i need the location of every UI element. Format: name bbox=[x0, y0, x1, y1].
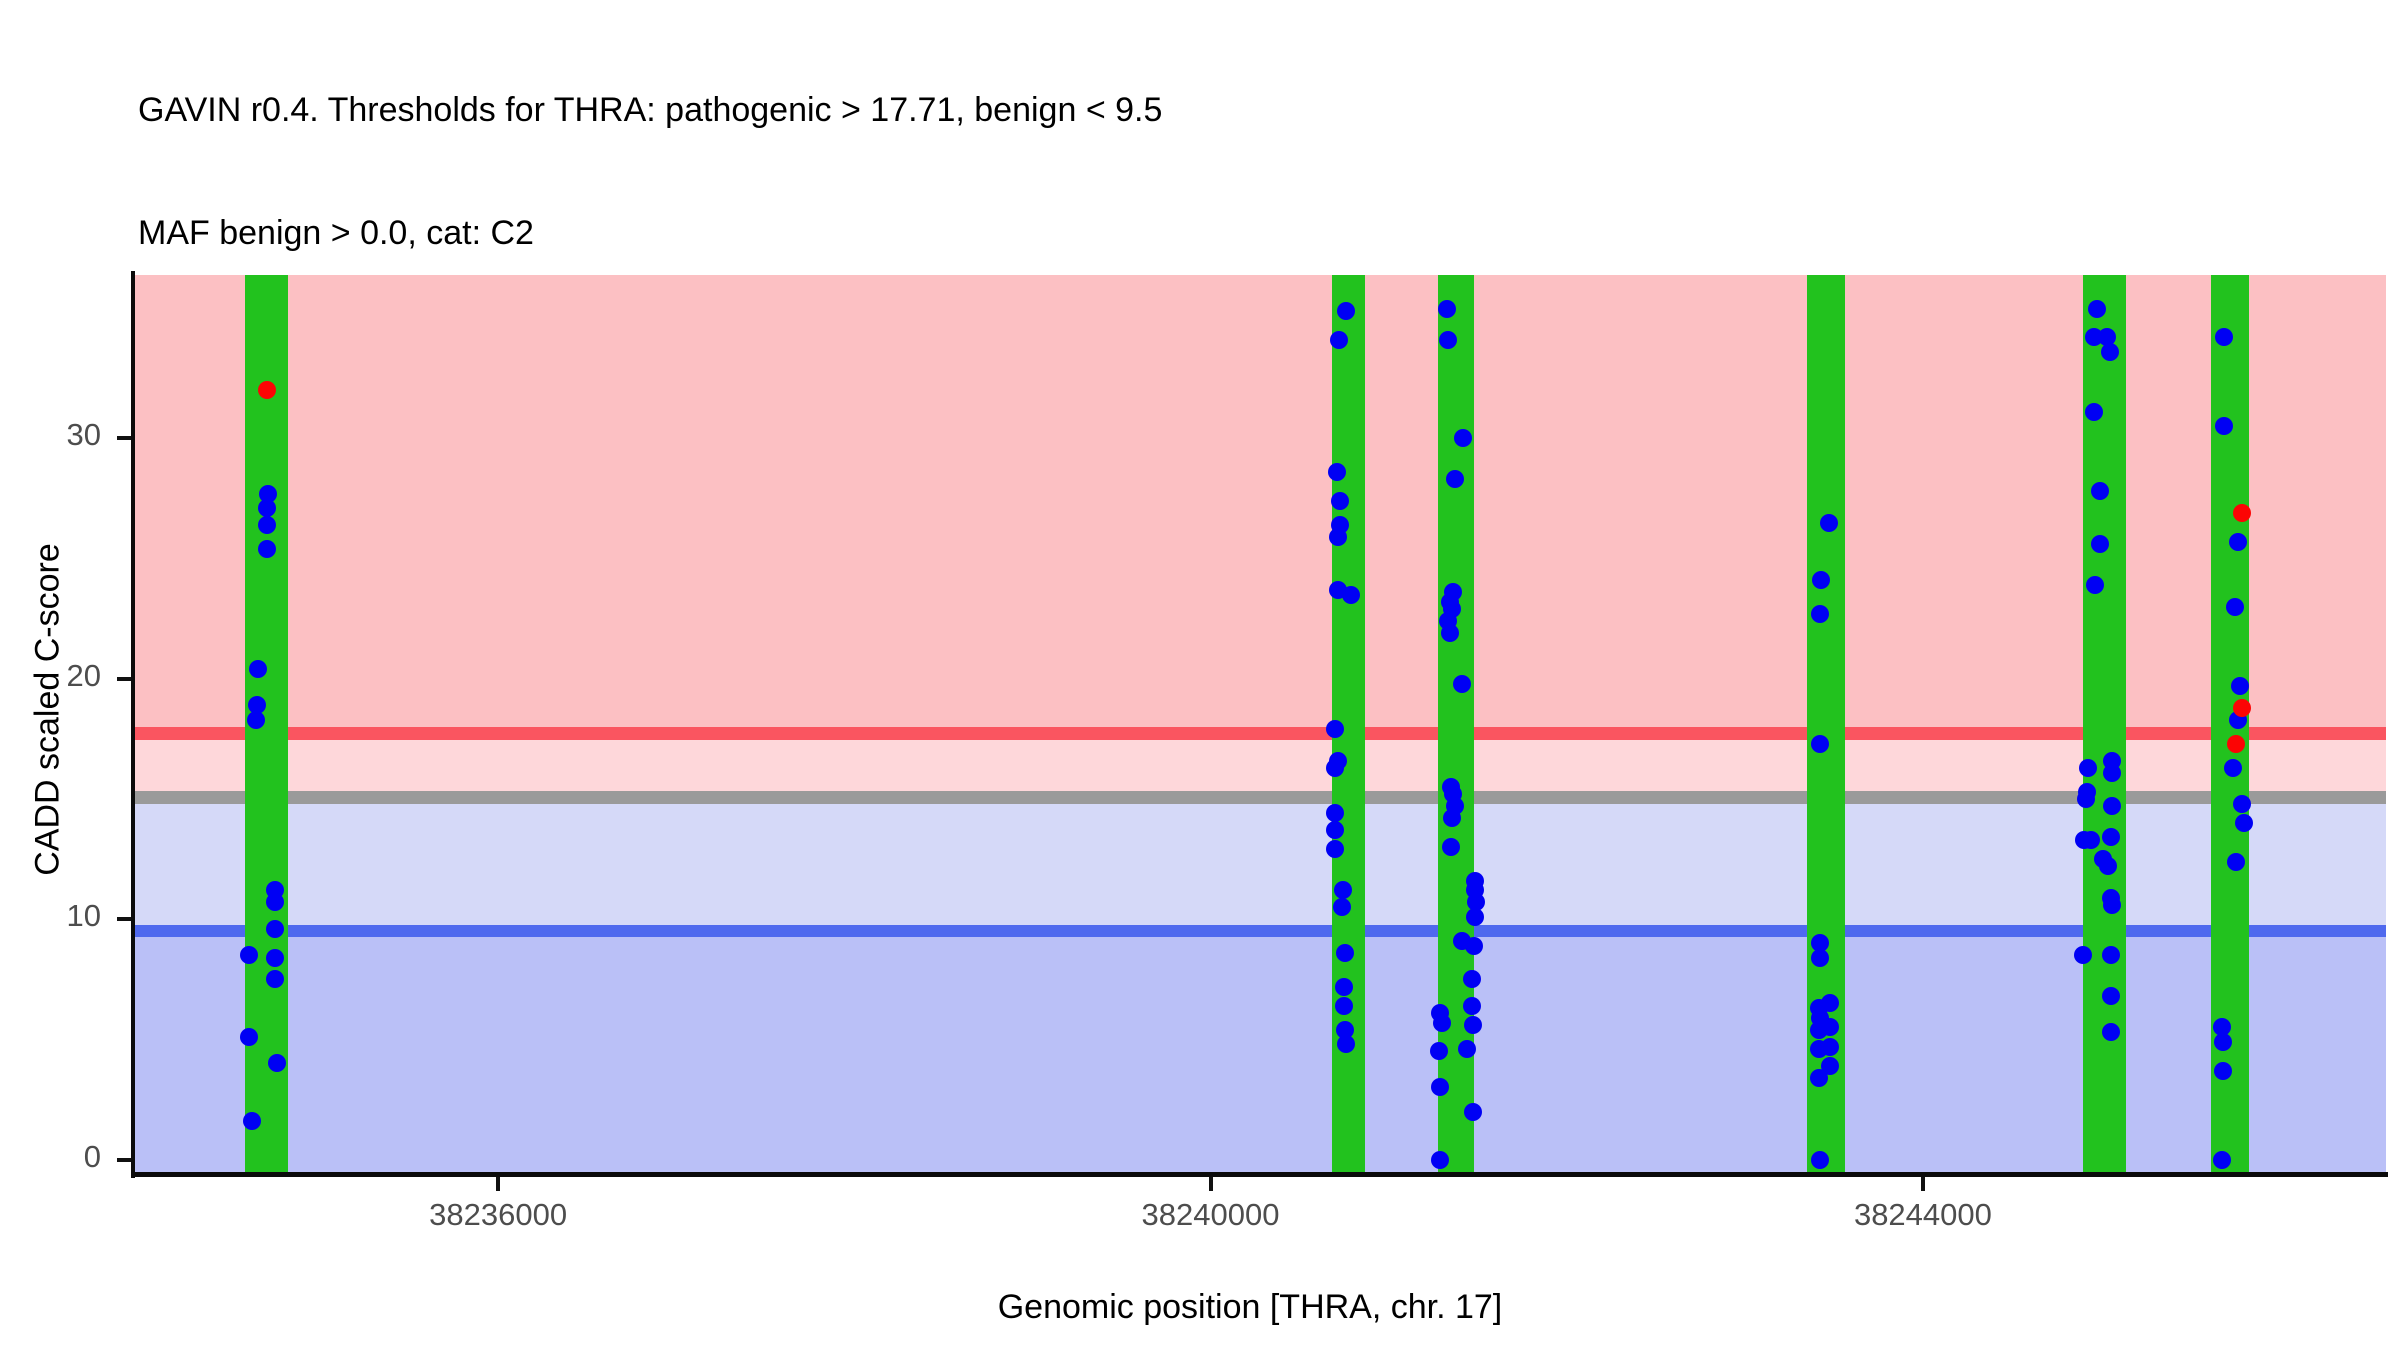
gnomad-variant-point bbox=[2102, 946, 2120, 964]
gnomad-variant-point bbox=[2226, 598, 2244, 616]
gnomad-variant-point bbox=[266, 920, 284, 938]
gnomad-variant-point bbox=[1811, 1151, 1829, 1169]
gnomad-variant-point bbox=[258, 499, 276, 517]
gnomad-variant-point bbox=[247, 711, 265, 729]
gnomad-variant-point bbox=[2214, 1062, 2232, 1080]
gnomad-variant-point bbox=[1443, 809, 1461, 827]
gnomad-variant-point bbox=[1337, 302, 1355, 320]
y-tick-mark bbox=[117, 677, 131, 681]
band-uncertain-lower bbox=[133, 804, 2386, 925]
gnomad-variant-point bbox=[2227, 853, 2245, 871]
gnomad-variant-point bbox=[266, 949, 284, 967]
band-uncertain-upper bbox=[133, 740, 2386, 790]
gnomad-variant-point bbox=[240, 1028, 258, 1046]
gnomad-variant-point bbox=[2088, 300, 2106, 318]
refseq-exon-bar bbox=[1438, 275, 1474, 1174]
gnomad-variant-point bbox=[1811, 735, 1829, 753]
y-tick-mark bbox=[117, 1158, 131, 1162]
x-tick-label: 38236000 bbox=[368, 1197, 628, 1233]
title-line-1: GAVIN r0.4. Thresholds for THRA: pathoge… bbox=[138, 90, 2238, 131]
gnomad-variant-point bbox=[1328, 463, 1346, 481]
gnomad-variant-point bbox=[2233, 795, 2251, 813]
y-tick-label: 0 bbox=[0, 1139, 101, 1175]
gnomad-variant-point bbox=[2102, 987, 2120, 1005]
gnomad-variant-point bbox=[1335, 978, 1353, 996]
gnomad-variant-point bbox=[2231, 677, 2249, 695]
gnomad-variant-point bbox=[1466, 908, 1484, 926]
gnomad-variant-point bbox=[1458, 1040, 1476, 1058]
band-genome-wide-fallback-line bbox=[133, 791, 2386, 805]
gnomad-variant-point bbox=[1329, 528, 1347, 546]
gnomad-variant-point bbox=[258, 516, 276, 534]
y-axis-title: CADD scaled C-score bbox=[29, 400, 68, 1020]
gnomad-variant-point bbox=[2103, 797, 2121, 815]
gnomad-variant-point bbox=[249, 660, 267, 678]
gnomad-variant-point bbox=[240, 946, 258, 964]
gnomad-variant-point bbox=[1431, 1151, 1449, 1169]
x-tick-label: 38240000 bbox=[1081, 1197, 1341, 1233]
gnomad-variant-point bbox=[2079, 759, 2097, 777]
gnomad-variant-point bbox=[1330, 331, 1348, 349]
gnomad-variant-point bbox=[1342, 586, 1360, 604]
clinvar-variant-point bbox=[2233, 699, 2251, 717]
gnomad-variant-point bbox=[1464, 1103, 1482, 1121]
x-tick-mark bbox=[496, 1177, 500, 1191]
gnomad-variant-point bbox=[2101, 343, 2119, 361]
y-tick-mark bbox=[117, 917, 131, 921]
gnomad-variant-point bbox=[2103, 764, 2121, 782]
x-tick-label: 38244000 bbox=[1793, 1197, 2053, 1233]
band-pathogenic-threshold-line bbox=[133, 727, 2386, 740]
band-benign-threshold-line bbox=[133, 925, 2386, 937]
gnomad-variant-point bbox=[1453, 675, 1471, 693]
gnomad-variant-point bbox=[1442, 838, 1460, 856]
gnomad-variant-point bbox=[2214, 1033, 2232, 1051]
band-pathogenic bbox=[133, 275, 2386, 734]
gnomad-variant-point bbox=[2235, 814, 2253, 832]
gnomad-variant-point bbox=[1811, 605, 1829, 623]
title-line-2: MAF benign > 0.0, cat: C2 bbox=[138, 213, 2238, 254]
gnomad-variant-point bbox=[2086, 576, 2104, 594]
gnomad-variant-point bbox=[1433, 1014, 1451, 1032]
plot-root: GAVIN r0.4. Thresholds for THRA: pathoge… bbox=[0, 0, 2400, 1350]
gnomad-variant-point bbox=[2213, 1151, 2231, 1169]
y-tick-mark bbox=[117, 436, 131, 440]
gnomad-variant-point bbox=[2077, 790, 2095, 808]
x-tick-mark bbox=[1209, 1177, 1213, 1191]
clinvar-variant-point bbox=[2227, 735, 2245, 753]
clinvar-variant-point bbox=[258, 381, 276, 399]
gnomad-variant-point bbox=[2085, 403, 2103, 421]
gnomad-variant-point bbox=[1326, 759, 1344, 777]
gnomad-variant-point bbox=[1446, 470, 1464, 488]
gnomad-variant-point bbox=[1821, 1038, 1839, 1056]
y-axis-line bbox=[131, 271, 135, 1178]
x-axis-title: Genomic position [THRA, chr. 17] bbox=[600, 1288, 1900, 1327]
gnomad-variant-point bbox=[2082, 831, 2100, 849]
gnomad-variant-point bbox=[266, 893, 284, 911]
gnomad-variant-point bbox=[1336, 944, 1354, 962]
gnomad-variant-point bbox=[1465, 937, 1483, 955]
gnomad-variant-point bbox=[1331, 492, 1349, 510]
band-benign bbox=[133, 937, 2386, 1174]
gnomad-variant-point bbox=[2103, 896, 2121, 914]
gnomad-variant-point bbox=[1820, 514, 1838, 532]
gnomad-variant-point bbox=[2102, 1023, 2120, 1041]
clinvar-variant-point bbox=[2233, 504, 2251, 522]
gnomad-variant-point bbox=[1811, 949, 1829, 967]
gnomad-variant-point bbox=[1337, 1035, 1355, 1053]
gnomad-variant-point bbox=[1463, 997, 1481, 1015]
x-axis-line bbox=[131, 1172, 2388, 1177]
plot-panel bbox=[133, 275, 2386, 1174]
x-tick-mark bbox=[1921, 1177, 1925, 1191]
gnomad-variant-point bbox=[1438, 300, 1456, 318]
gnomad-variant-point bbox=[2229, 533, 2247, 551]
gnomad-variant-point bbox=[2224, 759, 2242, 777]
